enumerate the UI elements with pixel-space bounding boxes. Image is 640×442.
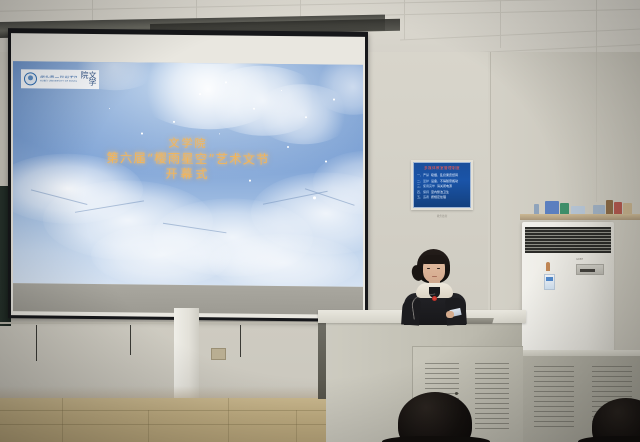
wall-notice-sign: 多媒体教室管理制度 一、严禁 吸烟、乱扔果皮纸屑 二、爱护 设备、不得随意搬动 … — [411, 160, 473, 210]
air-conditioner-louvres — [525, 227, 611, 253]
notice-sign-row: 一、严禁 吸烟、乱扔果皮纸屑 — [417, 173, 467, 177]
notice-row-key: 三、使用完毕 — [417, 184, 435, 188]
wall-mounted-box — [211, 348, 226, 360]
presenter-mouth — [432, 276, 437, 277]
notice-sign-row: 二、爱护 设备、不得随意搬动 — [417, 179, 467, 183]
notice-sign-row: 四、保持 室内整洁卫生 — [417, 190, 467, 194]
presenter-brooch — [432, 296, 437, 301]
wall-shelf — [520, 214, 640, 220]
cabinet-vent — [534, 364, 574, 434]
air-conditioner-display — [576, 264, 604, 275]
notice-sign-row: 五、违者 按规定处理 — [417, 195, 467, 199]
air-conditioner-sticker — [544, 274, 555, 290]
shelf-item — [560, 203, 569, 214]
audience-shoulder-right — [578, 436, 640, 442]
notice-row-value: 吸烟、乱扔果皮纸屑 — [431, 173, 458, 177]
notice-sign-row: 三、使用完毕 请关闭电源 — [417, 184, 467, 188]
wall-seam-secondary — [596, 52, 597, 202]
wall-corner-seam — [490, 52, 491, 352]
decorative-figure — [546, 262, 550, 271]
notice-sign-panel: 多媒体教室管理制度 一、严禁 吸烟、乱扔果皮纸屑 二、爱护 设备、不得随意搬动 … — [413, 162, 471, 208]
shelf-item — [614, 202, 622, 214]
presenter — [398, 249, 470, 321]
notice-row-key: 五、违者 — [417, 195, 429, 199]
slide-logo-block: 湖北第二师范学院 HUBEI UNIVERSITY OF EDUCATION 文… — [21, 69, 99, 89]
presenter-fringe — [422, 255, 446, 264]
lecture-hall-photo: Projector — [0, 0, 640, 442]
shelf-item — [606, 200, 613, 214]
notice-row-key: 四、保持 — [417, 190, 429, 194]
hanging-rod — [240, 325, 241, 357]
shelf-item — [545, 201, 559, 214]
notice-row-key: 二、爱护 — [417, 179, 429, 183]
notice-row-key: 一、严禁 — [417, 173, 429, 177]
air-conditioner-brand: GREE — [576, 258, 583, 261]
notice-row-value: 室内整洁卫生 — [431, 190, 449, 194]
shelf-item — [534, 204, 539, 214]
projected-slide: 湖北第二师范学院 HUBEI UNIVERSITY OF EDUCATION 文… — [13, 61, 363, 287]
hanging-rod — [130, 325, 131, 355]
logo-english-name: HUBEI UNIVERSITY OF EDUCATION — [40, 81, 77, 84]
notice-row-value: 设备、不得随意搬动 — [431, 179, 458, 183]
slide-title-block: 文学院 第六届“樱雨星空”艺术文节 开幕式 — [13, 135, 363, 184]
stage-platform — [0, 398, 340, 442]
university-emblem-icon — [24, 72, 37, 85]
hanging-rod — [36, 325, 37, 361]
wall-sign-caption: 教务处制 — [411, 214, 473, 218]
audience-shoulder-left — [382, 436, 490, 442]
presenter-hand — [446, 311, 454, 318]
shelf-item — [571, 206, 585, 214]
podium-vent — [475, 361, 509, 435]
shelf-item — [623, 203, 632, 214]
notice-sign-title: 多媒体教室管理制度 — [417, 166, 467, 171]
notice-row-value: 按规定处理 — [431, 195, 446, 199]
air-conditioner: GREE — [522, 222, 614, 360]
notice-row-value: 请关闭电源 — [437, 184, 452, 188]
logo-calligraphy: 文学院 — [80, 71, 96, 88]
shelf-item — [593, 205, 605, 214]
